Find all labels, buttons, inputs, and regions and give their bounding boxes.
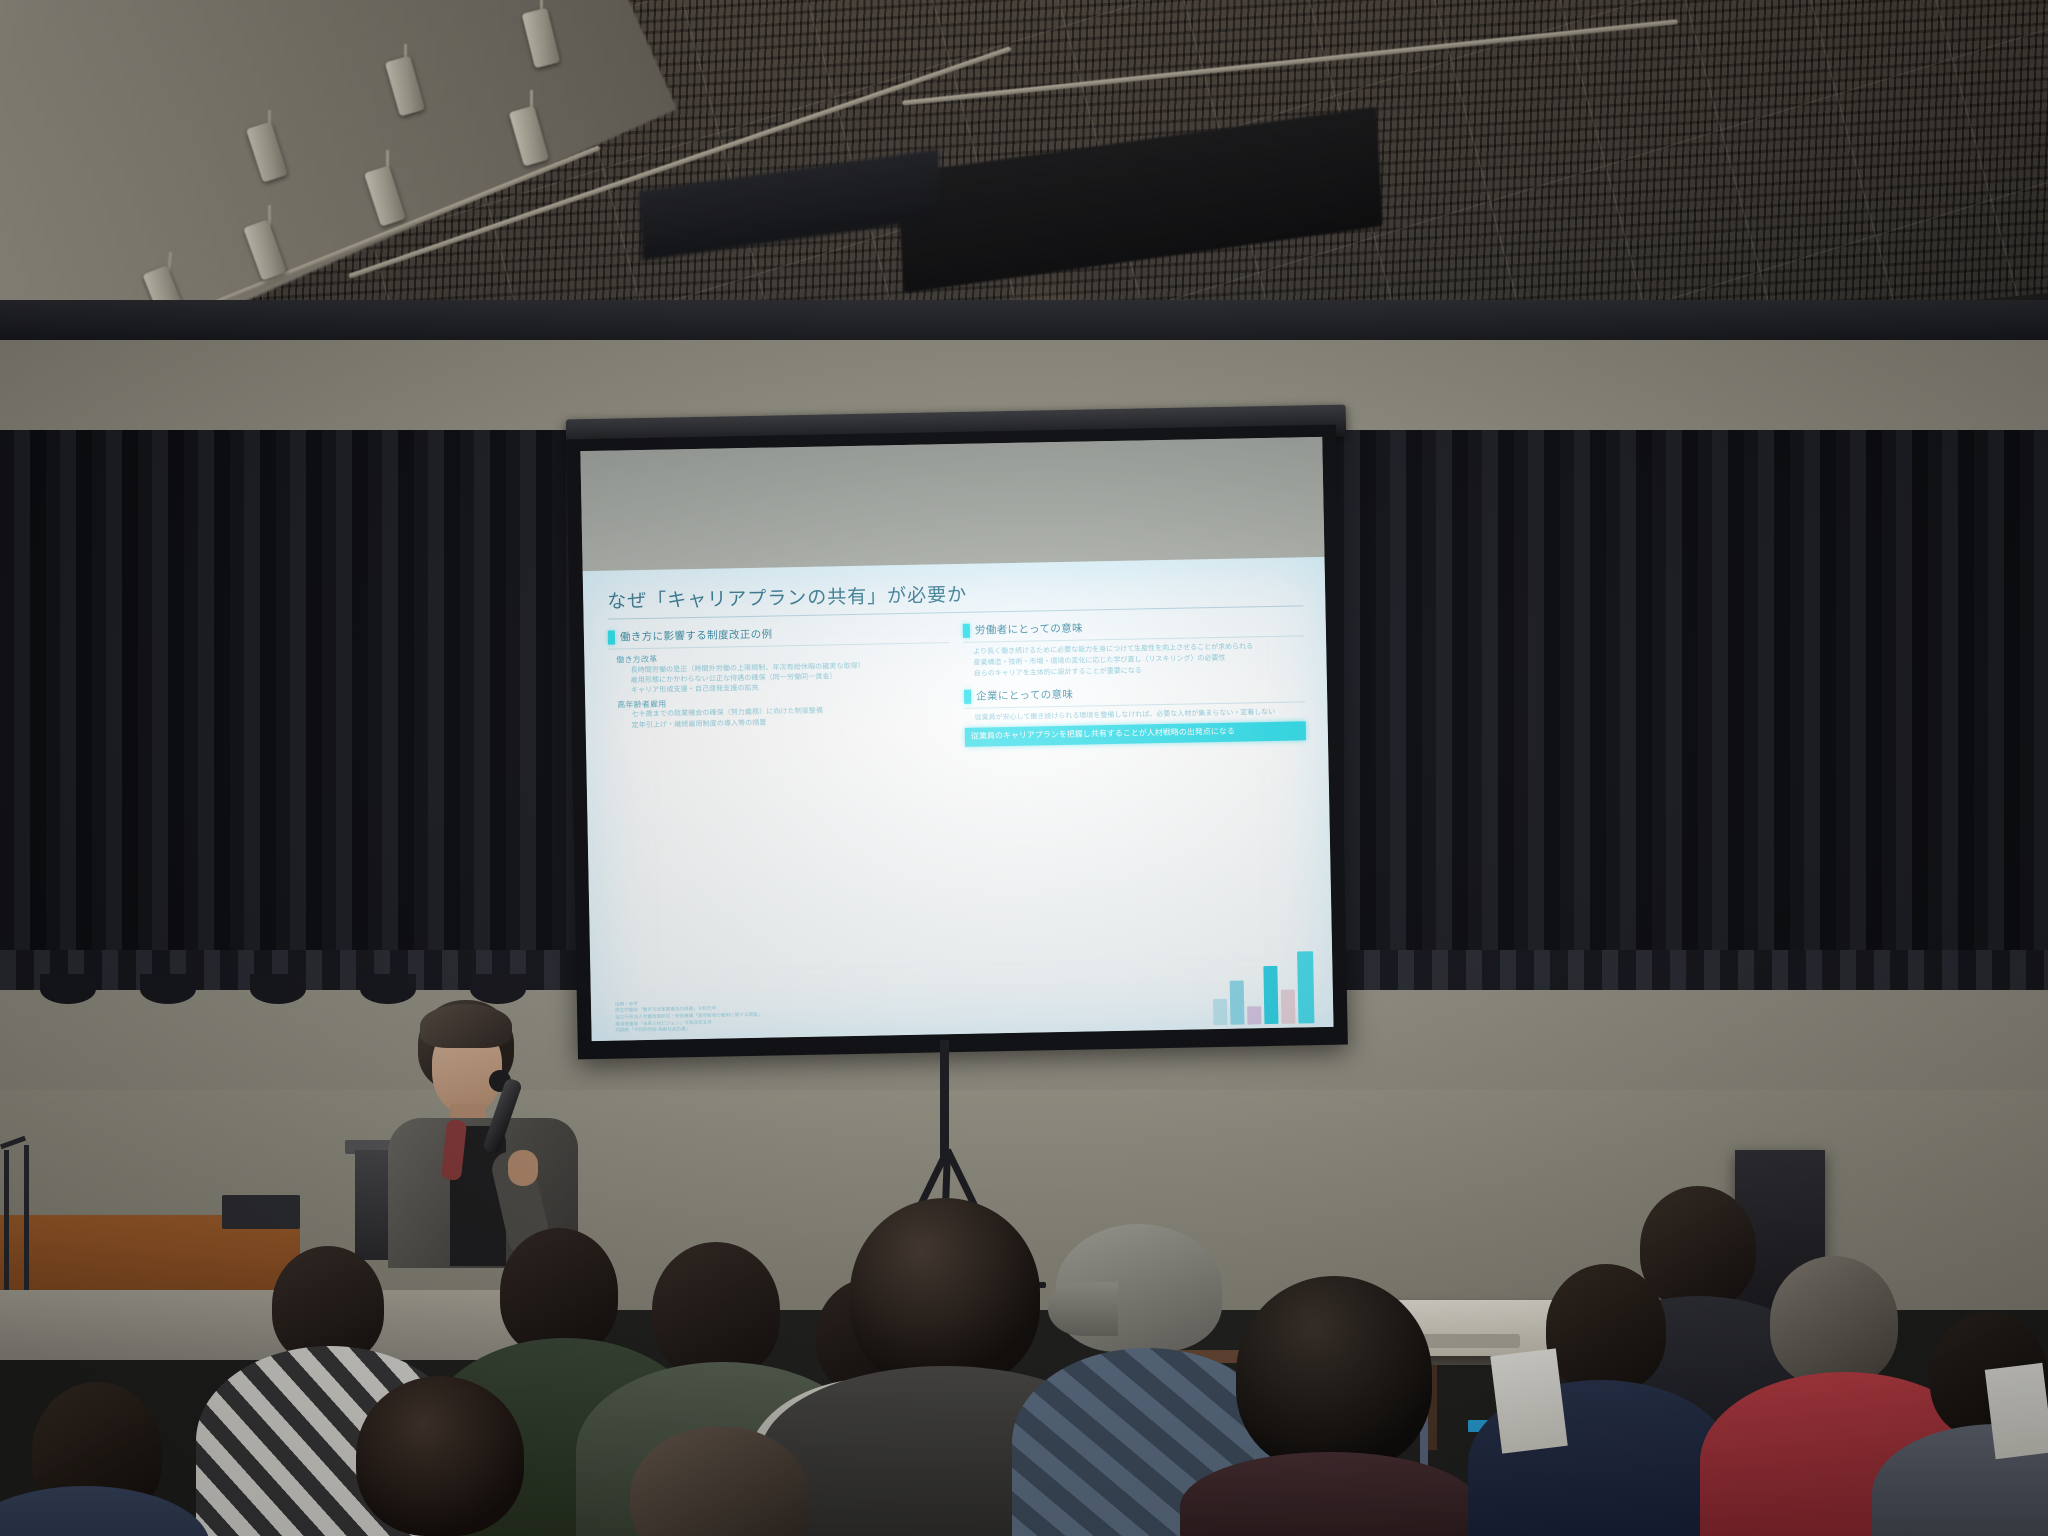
stage-curtain-right [1330, 430, 2048, 990]
screen-surface: なぜ「キャリアプランの共有」が必要か 働き方に影響する制度改正の例 働き方改革 … [580, 437, 1333, 1041]
left-section-header: 働き方に影響する制度改正の例 [608, 623, 949, 645]
right-heading-label-1: 労働者にとっての意味 [975, 621, 1083, 638]
curtain-hem [1330, 950, 2048, 990]
right-section-header-2: 企業にとっての意味 [964, 683, 1305, 705]
slide-footnotes: 出典・参考 厚生労働省「働き方改革関連法の概要」令和元年 独立行政法人労働政策研… [615, 996, 916, 1035]
audience-head [1640, 1186, 1756, 1308]
slide-decorative-bars [1212, 949, 1323, 1025]
right-section-header-1: 労働者にとっての意味 [963, 616, 1304, 638]
screen-blank-area [580, 437, 1324, 573]
right-heading-label-2: 企業にとっての意味 [976, 687, 1074, 704]
audience-head [500, 1228, 618, 1356]
audience-head [850, 1198, 1040, 1388]
slide-content: なぜ「キャリアプランの共有」が必要か 働き方に影響する制度改正の例 働き方改革 … [583, 557, 1334, 1041]
accent-chip-icon [608, 630, 615, 644]
accent-chip-icon [964, 690, 971, 704]
handout-paper [1490, 1348, 1567, 1453]
audience-head [652, 1242, 780, 1378]
slide-callout-box: 従業員のキャリアプランを把握し共有することが人材戦略の出発点になる [965, 722, 1306, 747]
photograph-scene: なぜ「キャリアプランの共有」が必要か 働き方に影響する制度改正の例 働き方改革 … [0, 0, 2048, 1536]
handout-paper [1985, 1363, 2048, 1459]
curtain-valance [0, 300, 2048, 340]
cap-brim-icon [1048, 1282, 1118, 1336]
audience-head [1546, 1264, 1666, 1392]
accent-chip-icon [963, 623, 970, 637]
presenter-hair-fringe [420, 1004, 512, 1048]
audience-head [1770, 1256, 1898, 1386]
slide-left-column: 働き方に影響する制度改正の例 働き方改革 長時間労働の是正（時間外労働の上限規制… [608, 621, 951, 753]
stage-curtain-left [0, 430, 600, 990]
audience-head [1236, 1276, 1432, 1472]
slide-right-column: 労働者にとっての意味 より長く働き続けるために必要な能力を身につけて生産性を向上… [963, 614, 1306, 746]
bullet-item: 従業員が安心して働き続けられる環境を整備しなければ、必要な人材が集まらない・定着… [974, 708, 1305, 723]
projection-screen: なぜ「キャリアプランの共有」が必要か 働き方に影響する制度改正の例 働き方改革 … [566, 425, 1348, 1060]
audience-shoulders [0, 1486, 210, 1536]
audience-head [356, 1376, 524, 1536]
audience-group [0, 1066, 2048, 1536]
left-heading-label: 働き方に影響する制度改正の例 [620, 627, 773, 645]
